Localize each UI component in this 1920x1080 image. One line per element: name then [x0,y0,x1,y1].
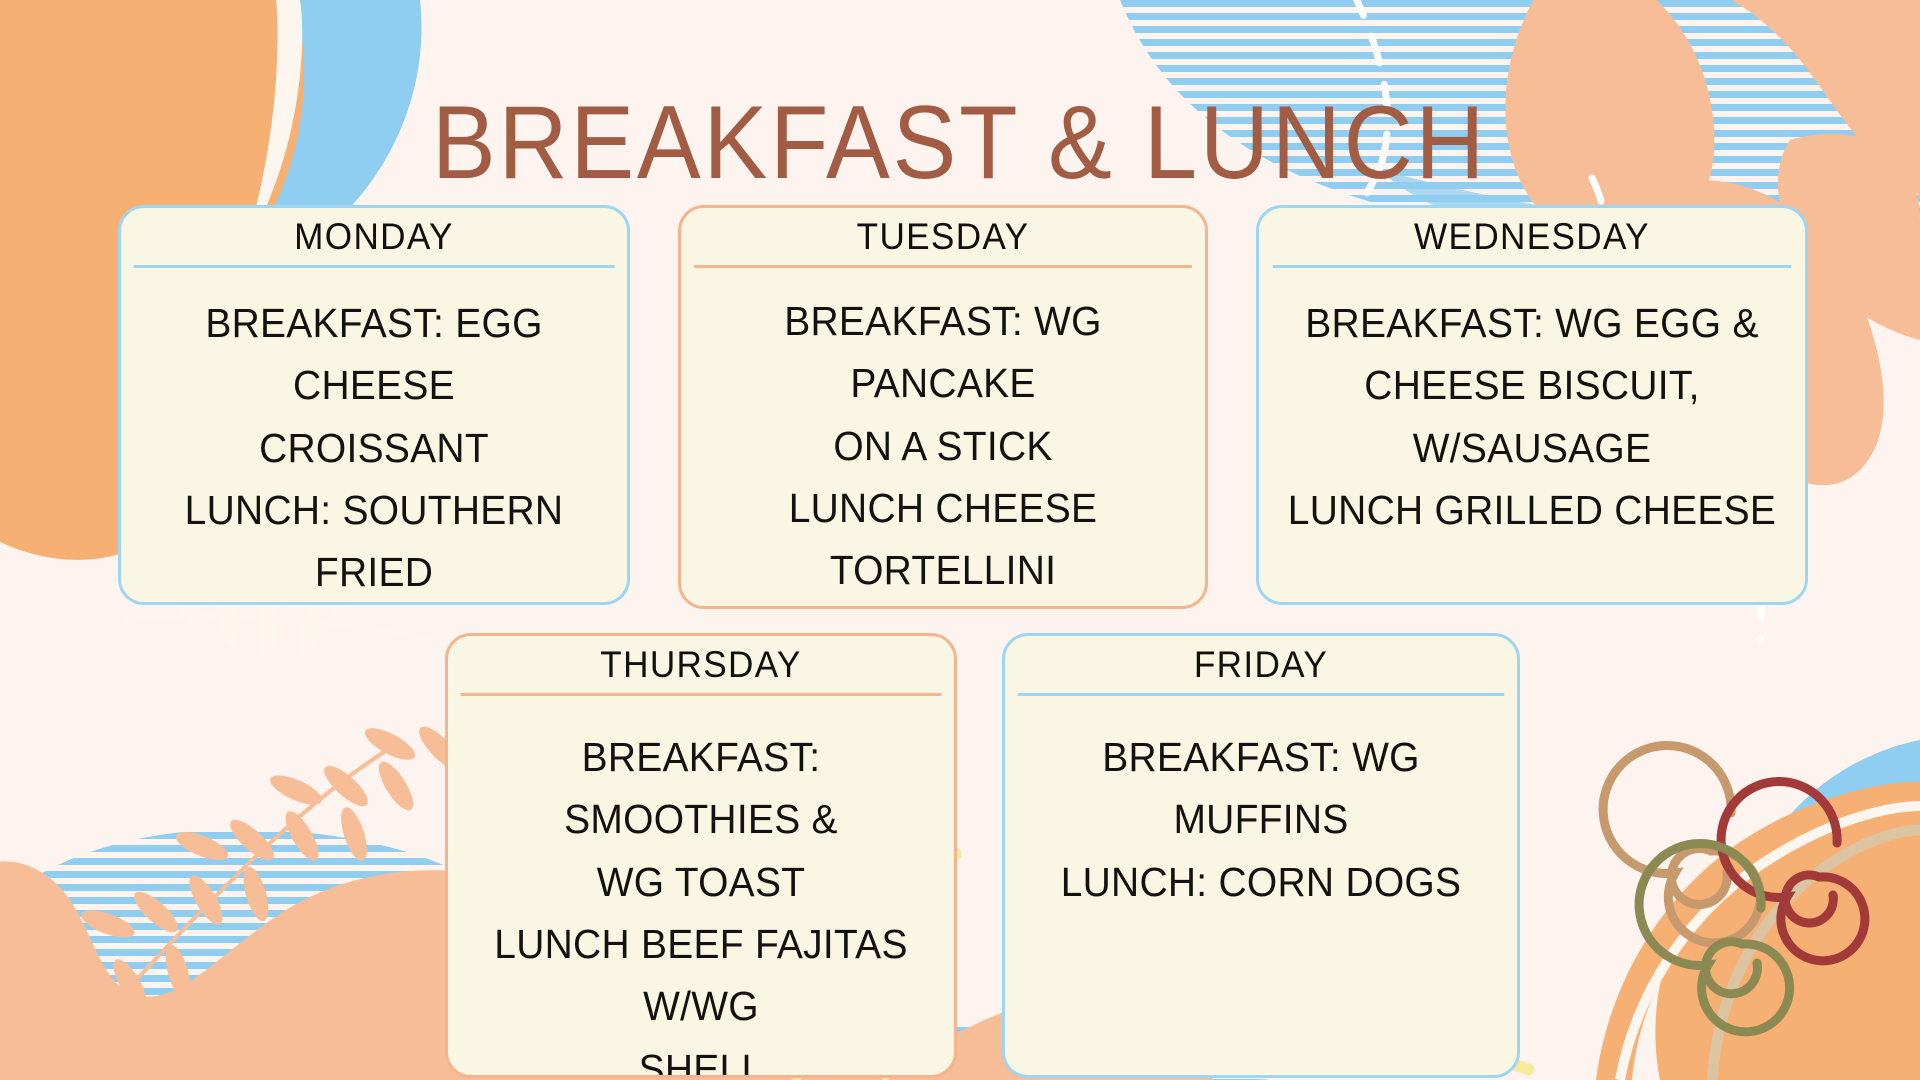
menu-line: BREAKFAST: SMOOTHIES & [474,726,928,851]
bottom-left-leaf-icon [6,721,472,1080]
menu-line: W/SAUSAGE [1286,417,1778,479]
menu-line: LUNCH BEEF FAJITAS W/WG [474,913,928,1038]
menu-row-bottom: THURSDAY BREAKFAST: SMOOTHIES & WG TOAST… [445,633,1520,1078]
menu-line: BREAKFAST: WG MUFFINS [1031,726,1491,851]
bottom-right-orange-sweep [1596,782,1920,1080]
poster-canvas: BREAKFAST & LUNCH MONDAY BREAKFAST: EGG … [0,0,1920,1080]
day-menu-tuesday: BREAKFAST: WG PANCAKE ON A STICK LUNCH C… [694,268,1192,609]
menu-line: CHICKEN [147,604,601,605]
spiral-olive-icon [1639,844,1790,1032]
bottom-right-white-curve [1620,806,1920,1080]
menu-line: BREAKFAST: WG EGG & [1286,292,1778,354]
menu-line: LUNCH CHEESE TORTELLINI [707,477,1178,602]
menu-line: LUNCH: SOUTHERN FRIED [147,479,601,604]
menu-line: BREAKFAST: EGG CHEESE [147,292,601,417]
bottom-left-orange-blob-2 [0,938,196,1080]
bottom-right-orange-blob-2 [1655,798,1920,1080]
day-menu-thursday: BREAKFAST: SMOOTHIES & WG TOAST LUNCH BE… [461,696,942,1078]
day-card-thursday[interactable]: THURSDAY BREAKFAST: SMOOTHIES & WG TOAST… [445,633,957,1078]
day-card-friday[interactable]: FRIDAY BREAKFAST: WG MUFFINS LUNCH: CORN… [1002,633,1520,1078]
bottom-right-tan-curve [1712,830,1920,1080]
bottom-right-blue-blob-2 [1735,740,1920,1080]
menu-line: BREAKFAST: WG PANCAKE [707,290,1178,415]
day-title-friday: FRIDAY [1018,636,1504,696]
menu-line: LUNCH GRILLED CHEESE [1286,479,1778,541]
spiral-maroon-icon [1721,782,1865,961]
menu-line: CHEESE BISCUIT, [1286,354,1778,416]
menu-line: CROISSANT [147,417,601,479]
menu-line: WG TOAST [474,851,928,913]
menu-line: ON A STICK [707,415,1178,477]
spiral-tan-icon [1603,745,1760,942]
page-title: BREAKFAST & LUNCH [432,88,1487,198]
menu-line: W/CREAMY GARLIC SAUCE [707,602,1178,609]
day-menu-friday: BREAKFAST: WG MUFFINS LUNCH: CORN DOGS [1018,696,1504,1075]
menu-line: LUNCH: CORN DOGS [1031,851,1491,913]
bottom-right-orange-blob [1716,980,1920,1080]
page-title-wrap: BREAKFAST & LUNCH [0,18,1920,268]
menu-line: SHELL [474,1038,928,1078]
day-menu-wednesday: BREAKFAST: WG EGG & CHEESE BISCUIT, W/SA… [1273,268,1792,602]
day-menu-monday: BREAKFAST: EGG CHEESE CROISSANT LUNCH: S… [134,268,615,605]
bottom-right-blue-blob [1726,760,1920,1080]
day-title-thursday: THURSDAY [461,636,942,696]
